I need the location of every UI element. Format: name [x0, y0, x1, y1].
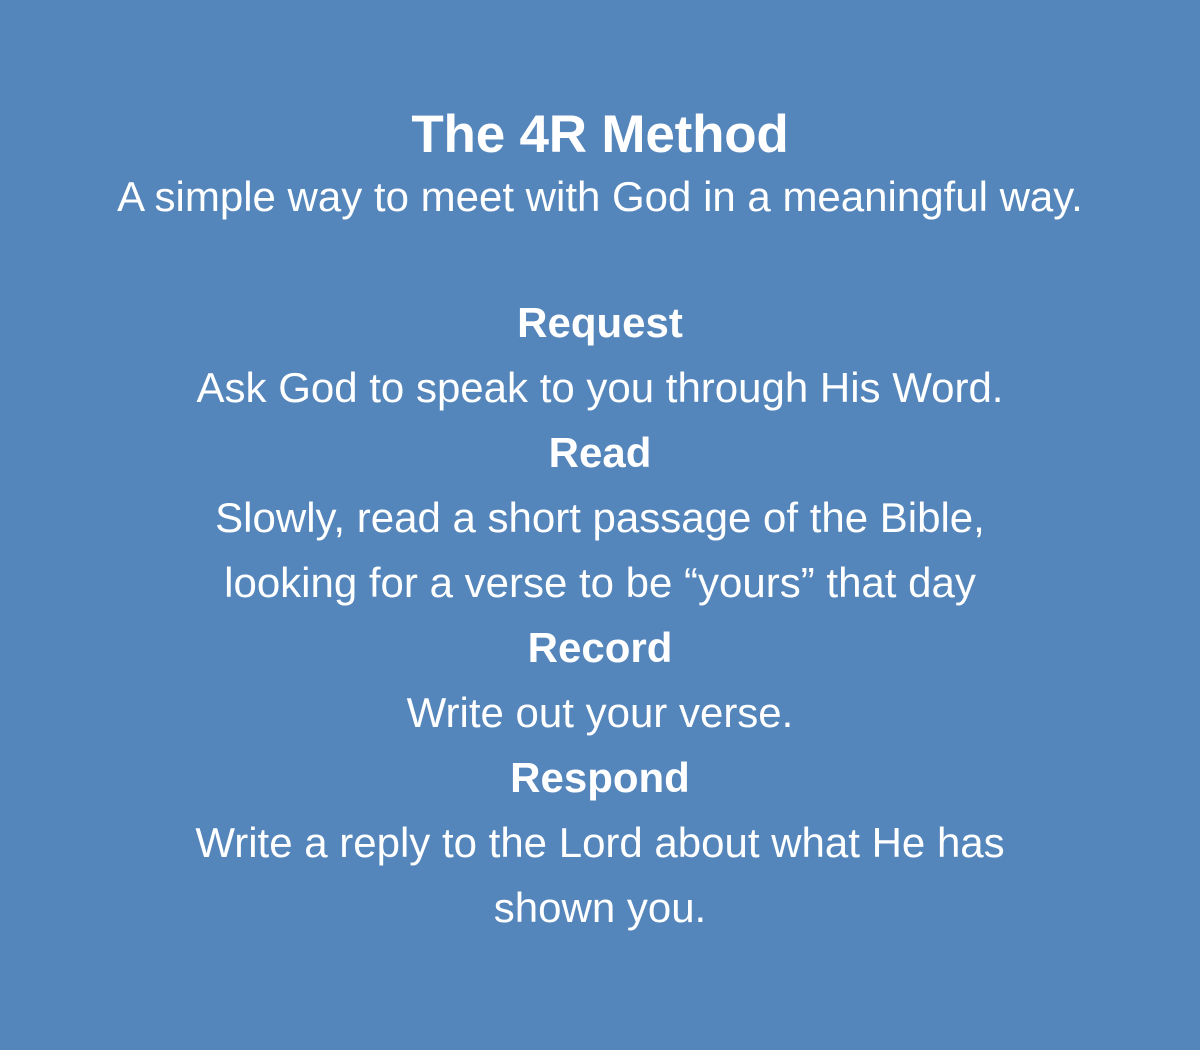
step-description-line: Ask God to speak to you through His Word… — [197, 355, 1004, 420]
step-read: Read Slowly, read a short passage of the… — [0, 420, 1200, 615]
step-respond: Respond Write a reply to the Lord about … — [0, 745, 1200, 940]
page-subtitle: A simple way to meet with God in a meani… — [117, 166, 1083, 228]
step-description-line: shown you. — [195, 875, 1004, 940]
step-description: Write a reply to the Lord about what He … — [195, 810, 1004, 940]
step-description-line: Slowly, read a short passage of the Bibl… — [215, 485, 985, 550]
step-description-line: Write a reply to the Lord about what He … — [195, 810, 1004, 875]
header-body-spacer — [0, 228, 1200, 290]
step-description-line: looking for a verse to be “yours” that d… — [215, 550, 985, 615]
step-description: Slowly, read a short passage of the Bibl… — [215, 485, 985, 615]
step-description: Write out your verse. — [407, 680, 794, 745]
step-heading: Read — [549, 420, 652, 485]
step-description-line: Write out your verse. — [407, 680, 794, 745]
slide-canvas: The 4R Method A simple way to meet with … — [0, 0, 1200, 1050]
step-request: Request Ask God to speak to you through … — [0, 290, 1200, 420]
page-title: The 4R Method — [411, 104, 788, 166]
step-description: Ask God to speak to you through His Word… — [197, 355, 1004, 420]
steps-list: Request Ask God to speak to you through … — [0, 290, 1200, 940]
step-heading: Record — [528, 615, 673, 680]
step-heading: Request — [517, 290, 683, 355]
step-heading: Respond — [510, 745, 690, 810]
step-record: Record Write out your verse. — [0, 615, 1200, 745]
